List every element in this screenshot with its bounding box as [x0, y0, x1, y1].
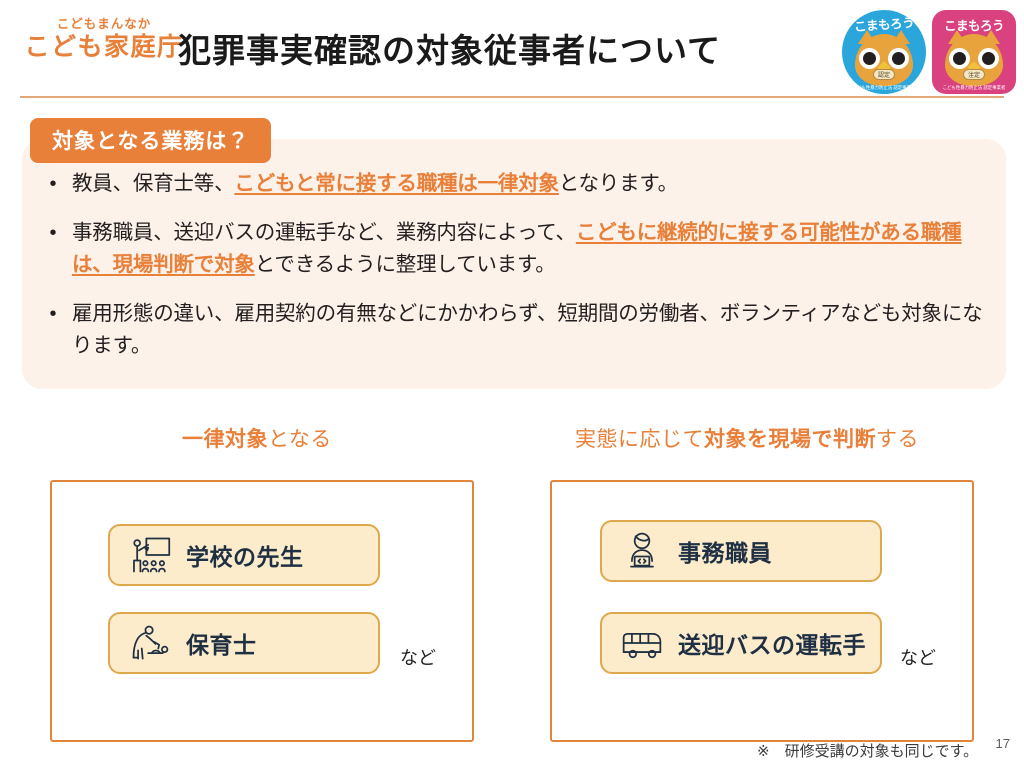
- bus-icon: [620, 622, 664, 664]
- bullet-marker: •: [34, 168, 72, 200]
- page-number: 17: [996, 736, 1010, 751]
- column-heading-right-lead: 実態に応じて: [575, 428, 704, 451]
- bullet-text-3: 雇用形態の違い、雇用契約の有無などにかかわらず、短期間の労働者、ボランティアなど…: [72, 298, 994, 362]
- slide-header: こどもまんなか こども家庭庁 犯罪事実確認の対象従事者について こまもろう 認定…: [0, 0, 1024, 96]
- column-heading-left-rest: となる: [268, 428, 332, 451]
- bullet-text-2: 事務職員、送迎バスの運転手など、業務内容によって、こどもに継続的に接する可能性が…: [72, 217, 994, 281]
- bullet-marker: •: [34, 298, 72, 362]
- bullet-1-part-3: となります。: [559, 172, 678, 195]
- teacher-icon: [128, 534, 172, 576]
- column-heading-right-rest: する: [876, 428, 919, 451]
- agency-logo-kicker: こどもまんなか: [24, 18, 184, 31]
- bullet-1-highlight: こどもと常に接する職種は一律対象: [234, 172, 558, 195]
- mascot-footnote-pink: こども性暴力防止法 認定事業者: [932, 85, 1016, 91]
- mascot-name-blue: こまもろう: [842, 11, 926, 36]
- job-label-teacher: 学校の先生: [186, 538, 304, 572]
- bullet-marker: •: [34, 217, 72, 281]
- bullet-3-part-1: 雇用形態の違い、雇用契約の有無などにかかわらず、短期間の労働者、ボランティアなど…: [72, 302, 982, 357]
- job-label-nursery-teacher: 保育士: [186, 626, 257, 660]
- slide-root: こどもまんなか こども家庭庁 犯罪事実確認の対象従事者について こまもろう 認定…: [0, 0, 1024, 768]
- list-item: • 雇用形態の違い、雇用契約の有無などにかかわらず、短期間の労働者、ボランティア…: [34, 298, 994, 362]
- childcare-icon: [128, 622, 172, 664]
- mascot-badge-blue: 認定: [873, 69, 895, 80]
- list-item: • 事務職員、送迎バスの運転手など、業務内容によって、こどもに継続的に接する可能…: [34, 217, 994, 281]
- etc-label-right: など: [900, 644, 936, 670]
- mascot-name-pink: こまもろう: [932, 15, 1016, 34]
- mascot-badge-pink: 注定: [963, 69, 985, 80]
- agency-logo-name: こども家庭庁: [24, 35, 184, 60]
- job-label-bus-driver: 送迎バスの運転手: [678, 626, 866, 660]
- column-heading-left: 一律対象となる: [182, 423, 332, 453]
- mascot-logo-certified: こまもろう 認定 こども性暴力防止法 認定事業者: [842, 10, 926, 94]
- page-title: 犯罪事実確認の対象従事者について: [178, 24, 721, 72]
- mascot-footnote-blue: こども性暴力防止法 認定事業者: [842, 85, 926, 91]
- agency-logo: こどもまんなか こども家庭庁: [24, 18, 184, 60]
- job-pill-teacher[interactable]: 学校の先生: [108, 524, 380, 586]
- column-heading-right-bold: 対象を現場で判断: [704, 428, 876, 451]
- owl-icon-blue: [855, 34, 913, 92]
- header-divider: [20, 96, 1004, 98]
- category-box-uniform: [50, 480, 474, 742]
- bullet-list: • 教員、保育士等、こどもと常に接する職種は一律対象となります。 • 事務職員、…: [34, 168, 994, 379]
- bullet-2-part-1: 事務職員、送迎バスの運転手など、業務内容によって、: [72, 221, 576, 244]
- bullet-1-part-1: 教員、保育士等、: [72, 172, 234, 195]
- mascot-logo-designated: こまもろう 注定 こども性暴力防止法 認定事業者: [932, 10, 1016, 94]
- owl-icon-pink: [945, 34, 1003, 92]
- etc-label-left: など: [400, 644, 436, 670]
- job-pill-office-worker[interactable]: 事務職員: [600, 520, 882, 582]
- mascot-logos: こまもろう 認定 こども性暴力防止法 認定事業者 こまもろう: [842, 10, 1016, 94]
- bullet-text-1: 教員、保育士等、こどもと常に接する職種は一律対象となります。: [72, 168, 994, 200]
- column-heading-right: 実態に応じて対象を現場で判断する: [575, 423, 919, 453]
- column-heading-left-bold: 一律対象: [182, 428, 268, 451]
- bullet-2-part-3: とできるように整理しています。: [255, 253, 556, 276]
- footnote: ※ 研修受講の対象も同じです。: [757, 740, 978, 761]
- office-worker-icon: [620, 530, 664, 572]
- list-item: • 教員、保育士等、こどもと常に接する職種は一律対象となります。: [34, 168, 994, 200]
- job-label-office-worker: 事務職員: [678, 534, 772, 568]
- job-pill-bus-driver[interactable]: 送迎バスの運転手: [600, 612, 882, 674]
- job-pill-nursery-teacher[interactable]: 保育士: [108, 612, 380, 674]
- section-badge: 対象となる業務は？: [30, 118, 271, 163]
